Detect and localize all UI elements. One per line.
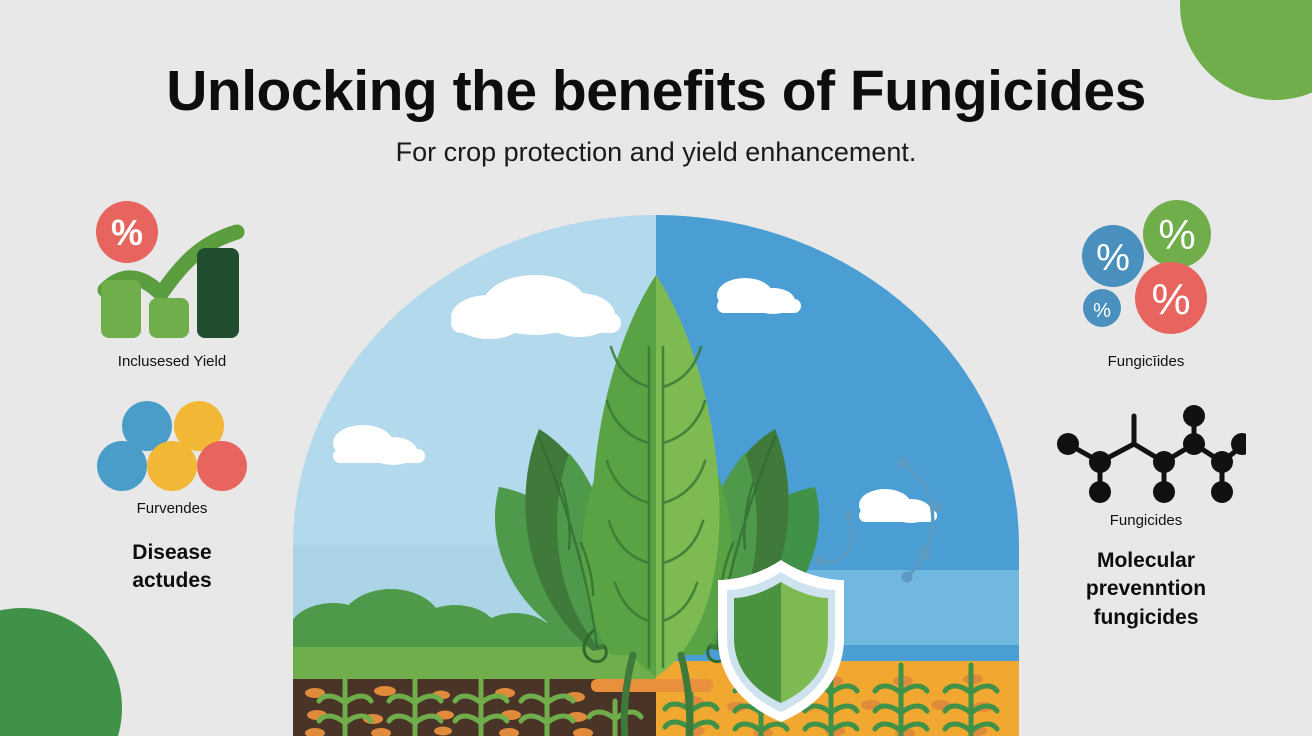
sidebar-heading-line-1: Disease [42,540,302,567]
dot [97,441,147,491]
percent-symbol: % [1093,300,1111,322]
page-title: Unlocking the benefits of Fungicides [0,60,1312,124]
sidebar-heading-line-2: actudes [42,568,302,595]
percent-symbol: % [1151,275,1190,324]
sidebar-item-label: Inclusesed Yield [42,352,302,372]
molecule-icon [1016,402,1276,507]
dot [147,441,197,491]
percent-bubbles-icon: % % % % [1016,198,1276,348]
dot [197,441,247,491]
sidebar-right: % % % % Fungicīides [1016,198,1276,642]
percent-symbol: % [1096,237,1130,279]
percent-symbol: % [111,212,143,253]
bar-1 [101,280,141,338]
decorative-circle-bottom-left [0,608,122,736]
page-subtitle: For crop protection and yield enhancemen… [0,136,1312,168]
sidebar-item-fungicides-percent[interactable]: % % % % Fungicīides [1016,198,1276,372]
bar-2 [149,298,189,338]
sidebar-left: % Inclusesed Yield Furvendes Disease act… [42,198,302,605]
sidebar-item-molecular-prevention[interactable]: Molecular prevenntion fungicides [1016,548,1276,633]
grass-band-left [293,647,656,679]
sidebar-item-fungicide-dots[interactable]: Furvendes [42,400,302,519]
infographic-canvas: Unlocking the benefits of Fungicides For… [0,0,1312,736]
sidebar-item-label: Furvendes [42,499,302,519]
dot-cluster-icon [42,400,302,495]
bar-chart-icon: % [42,198,302,348]
sidebar-item-disease-control[interactable]: Disease actudes [42,540,302,596]
crop-field-comparison-illustration [293,215,1019,736]
sidebar-heading-line-3: fungicides [1016,605,1276,632]
percent-symbol: % [1158,211,1195,258]
sidebar-item-increased-yield[interactable]: % Inclusesed Yield [42,198,302,372]
sidebar-item-label: Fungicīides [1016,352,1276,372]
sidebar-item-label: Fungicides [1016,511,1276,531]
dome-scene-group [293,215,1019,736]
bar-3 [197,248,239,338]
soil-right [656,661,1019,736]
sidebar-heading-line-1: Molecular [1016,548,1276,575]
header: Unlocking the benefits of Fungicides For… [0,60,1312,168]
sidebar-heading-line-2: prevenntion [1016,576,1276,603]
sidebar-item-molecular-structure[interactable]: Fungicides [1016,402,1276,531]
divider-bar [591,679,713,692]
